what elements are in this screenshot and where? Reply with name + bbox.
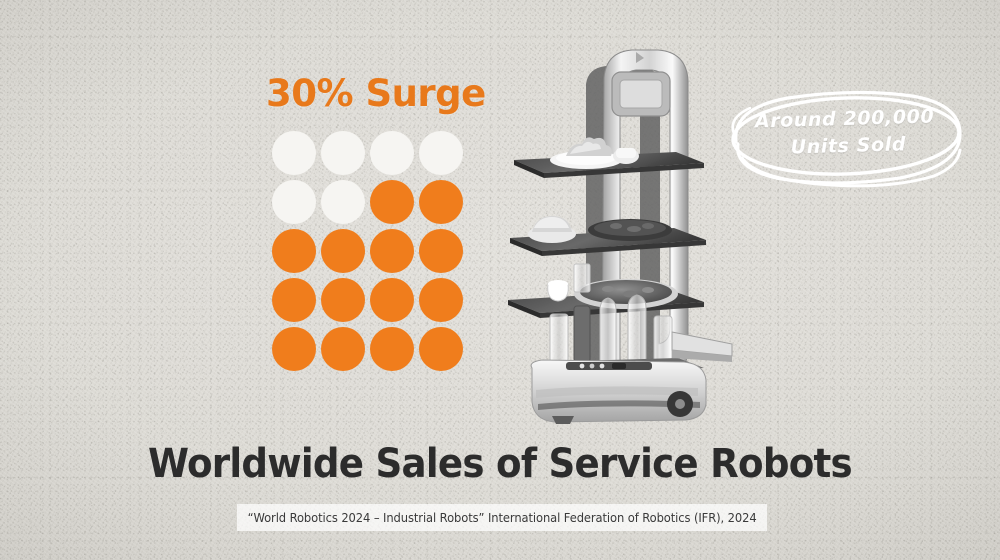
pictogram-dot-filled xyxy=(419,278,463,322)
pictogram-dot-filled xyxy=(272,278,316,322)
pictogram-dot-empty xyxy=(419,131,463,175)
pictogram-dot-empty xyxy=(272,131,316,175)
surge-headline: 30% Surge xyxy=(266,72,486,115)
pictogram-dot-filled xyxy=(370,229,414,273)
pictogram-dot-filled xyxy=(419,229,463,273)
pictogram-dot-filled xyxy=(321,278,365,322)
pictogram-dot-empty xyxy=(321,180,365,224)
pictogram-dot-filled xyxy=(321,327,365,371)
pictogram-dot-filled xyxy=(370,180,414,224)
pictogram-dot-grid xyxy=(272,131,468,376)
service-robot-image xyxy=(508,32,738,424)
infographic-canvas: 30% Surge xyxy=(0,0,1000,560)
pictogram-dot-empty xyxy=(321,131,365,175)
service-robot-illustration xyxy=(508,32,738,424)
pictogram-dot-empty xyxy=(272,180,316,224)
page-title: Worldwide Sales of Service Robots xyxy=(35,441,965,487)
source-caption-text: “World Robotics 2024 – Industrial Robots… xyxy=(248,511,757,525)
pictogram-dot-filled xyxy=(419,180,463,224)
callout-text-block: Around 200,000 Units Sold xyxy=(721,103,968,164)
source-caption-band: “World Robotics 2024 – Industrial Robots… xyxy=(237,504,767,531)
pictogram-dot-filled xyxy=(370,278,414,322)
handwritten-callout: Around 200,000 Units Sold xyxy=(722,88,968,190)
pictogram-dot-filled xyxy=(321,229,365,273)
pictogram-dot-filled xyxy=(419,327,463,371)
pictogram-dot-filled xyxy=(272,327,316,371)
pictogram-dot-filled xyxy=(272,229,316,273)
pictogram-dot-filled xyxy=(370,327,414,371)
pictogram-dot-empty xyxy=(370,131,414,175)
